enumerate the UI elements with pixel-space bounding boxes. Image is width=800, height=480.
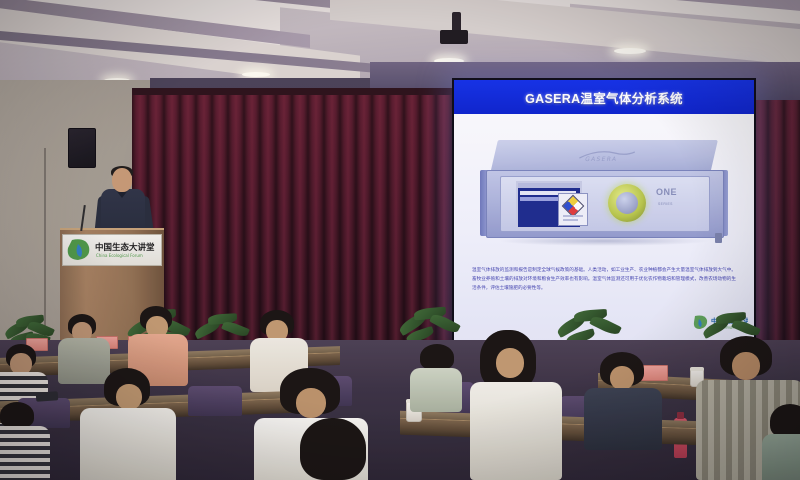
analyzer-model-sub: SERIES bbox=[658, 202, 673, 206]
phone[interactable] bbox=[36, 391, 59, 402]
slide-title: GASERA温室气体分析系统 bbox=[454, 88, 754, 107]
slide-body-text: 温室气体排放的监测和报告是制定全球气候政策的基础。人类活动，如工业生产、农业种植… bbox=[472, 266, 736, 293]
cup-lid bbox=[690, 367, 704, 371]
photo-scene: GASERA温室气体分析系统 GASERA bbox=[0, 0, 800, 480]
ceiling-downlight bbox=[242, 72, 270, 77]
bottle-cap bbox=[677, 412, 684, 419]
analyzer-knob[interactable] bbox=[608, 184, 646, 222]
touchscreen-dialog bbox=[558, 193, 588, 226]
name-card bbox=[640, 365, 668, 381]
ceiling-downlight bbox=[614, 48, 646, 54]
gas-analyzer-image: GASERA bbox=[480, 140, 728, 250]
audience-chair bbox=[188, 386, 242, 416]
touchscreen-titlebar bbox=[518, 183, 580, 188]
svg-text:GASERA: GASERA bbox=[584, 156, 618, 162]
hazard-diamond-icon bbox=[562, 195, 585, 218]
analyzer-port bbox=[715, 233, 722, 243]
knob-center bbox=[616, 192, 638, 214]
slide-surface: GASERA温室气体分析系统 GASERA bbox=[454, 80, 754, 342]
podium-banner: 中国生态大讲堂 China Ecological Forum bbox=[62, 234, 162, 266]
projector-body bbox=[440, 30, 468, 44]
projection-screen: GASERA温室气体分析系统 GASERA bbox=[452, 78, 756, 344]
wall-speaker bbox=[68, 128, 96, 168]
analyzer-touchscreen[interactable] bbox=[516, 181, 582, 229]
svg-text:China Ecological Forum: China Ecological Forum bbox=[96, 253, 143, 258]
analyzer-shadow bbox=[498, 236, 710, 246]
gasera-logo-icon: GASERA bbox=[574, 149, 639, 162]
svg-text:中国生态大讲堂: 中国生态大讲堂 bbox=[95, 242, 155, 253]
analyzer-model-badge: ONE bbox=[656, 187, 682, 203]
speaker-head bbox=[112, 168, 132, 192]
